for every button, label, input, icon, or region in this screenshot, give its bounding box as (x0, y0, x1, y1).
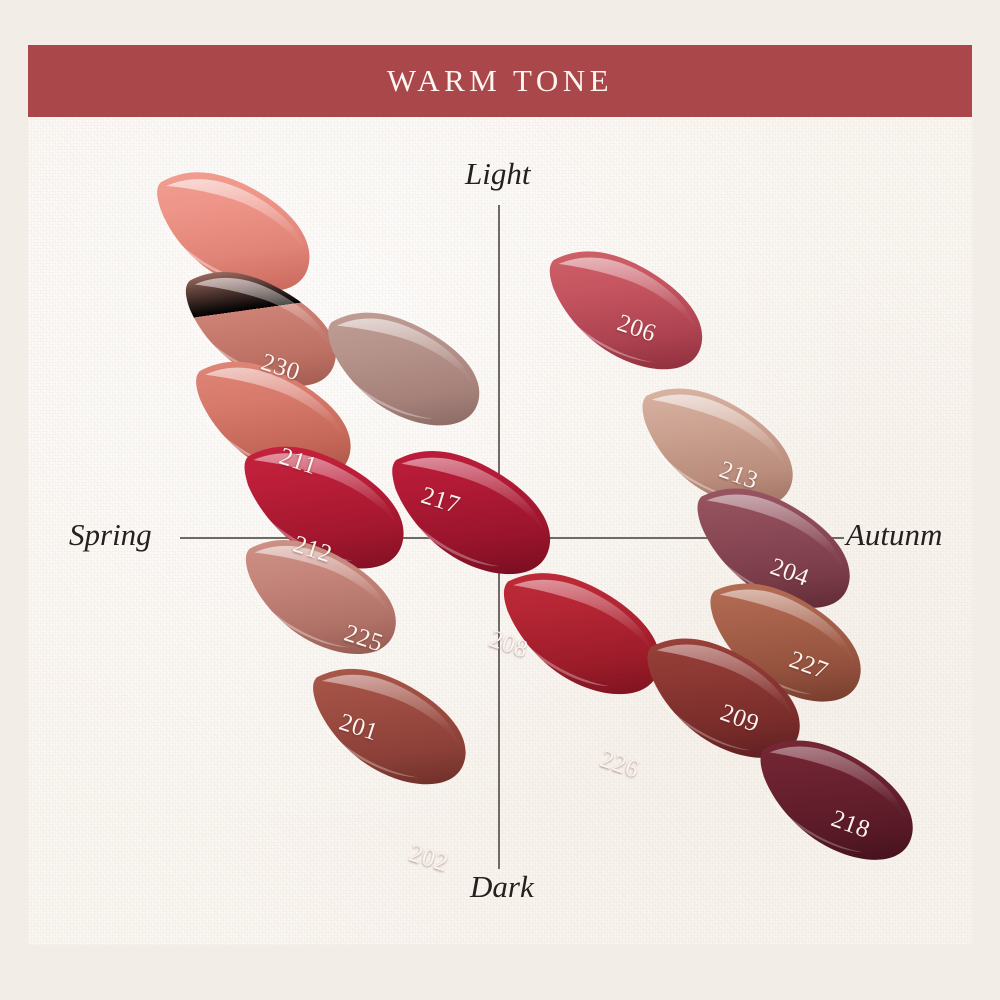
swatch-chart-page: WARM TONE Light Dark Spring Autunm (0, 0, 1000, 1000)
axis-label-spring: Spring (69, 517, 152, 553)
header-banner: WARM TONE (28, 45, 972, 117)
page-title: WARM TONE (387, 63, 613, 99)
axis-label-light: Light (465, 156, 530, 192)
swatch-218[interactable] (733, 719, 939, 882)
axis-label-dark: Dark (470, 869, 534, 905)
chart-canvas: Light Dark Spring Autunm (28, 117, 972, 945)
swatch-206[interactable] (523, 231, 726, 391)
axis-label-autumn: Autunm (846, 517, 942, 553)
swatch-202[interactable] (288, 649, 490, 805)
swatch-label-202: 202 (406, 840, 452, 879)
swatch-label-226: 226 (597, 745, 643, 784)
bottom-margin (0, 945, 1000, 1000)
